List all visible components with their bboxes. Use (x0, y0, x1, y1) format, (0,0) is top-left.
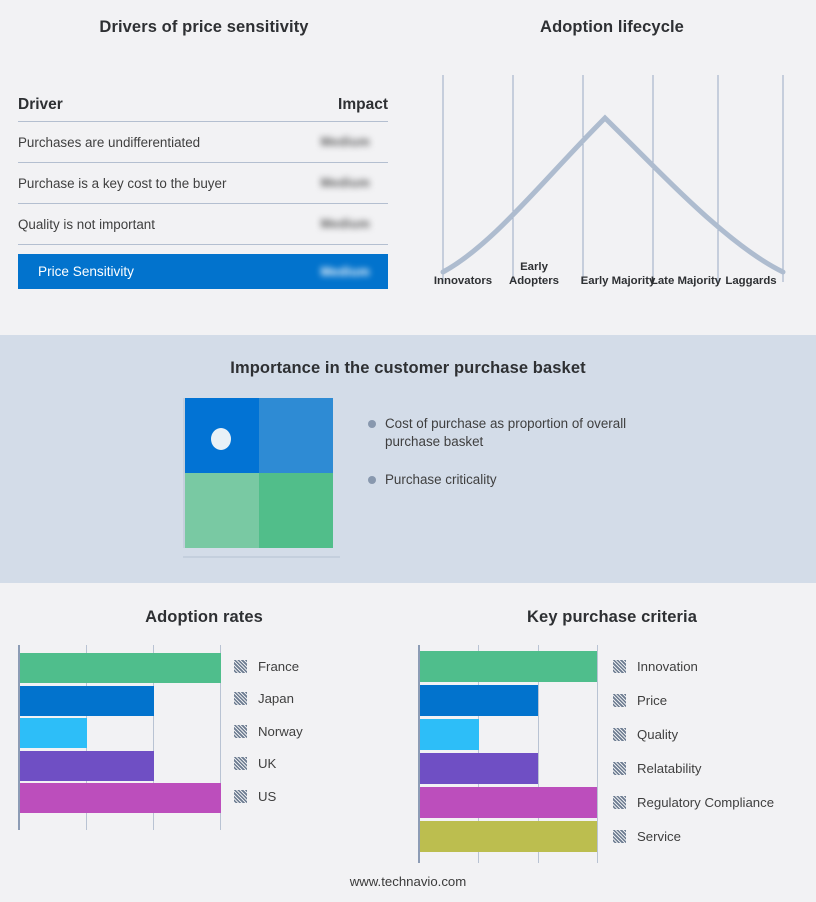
hatch-swatch-icon (234, 725, 247, 738)
drivers-panel-title: Drivers of price sensitivity (0, 18, 408, 37)
adoption-rates-legend: FranceJapanNorwayUKUS (234, 650, 303, 813)
table-row: Quality is not important Medium (18, 204, 388, 245)
matrix-x-axis (183, 556, 340, 558)
price-sensitivity-summary-row: Price Sensitivity Medium (18, 254, 388, 289)
legend-label: Price (637, 693, 667, 708)
legend-label: Regulatory Compliance (637, 795, 774, 810)
matrix-quadrant-bottom-left (185, 473, 259, 548)
legend-item: UK (234, 748, 303, 781)
key-purchase-criteria-panel: Key purchase criteria InnovationPriceQua… (408, 583, 816, 902)
legend-label: Quality (637, 727, 678, 742)
bar-us (20, 783, 221, 813)
key-purchase-criteria-title: Key purchase criteria (408, 608, 816, 627)
adoption-lifecycle-chart: Innovators Early Adopters Early Majority… (433, 60, 793, 310)
drivers-table: Driver Impact Purchases are undifferenti… (18, 88, 388, 289)
drivers-panel: Drivers of price sensitivity Driver Impa… (0, 0, 408, 335)
lifecycle-curve-svg (433, 60, 793, 310)
purchase-basket-matrix-wrap (183, 398, 333, 548)
bar-france (20, 653, 221, 683)
bar-service (420, 821, 597, 852)
bullet-icon (368, 476, 376, 484)
table-row: Purchases are undifferentiated Medium (18, 122, 388, 163)
bell-curve-path (443, 118, 783, 272)
legend-label: Relatability (637, 761, 702, 776)
legend-label: UK (258, 756, 276, 771)
gridline (597, 645, 598, 863)
list-item: Cost of purchase as proportion of overal… (368, 415, 668, 451)
matrix-position-marker-icon (211, 428, 231, 450)
driver-label: Quality is not important (18, 217, 155, 232)
summary-impact-value: Medium (321, 265, 388, 279)
lifecycle-stage-innovators: Innovators (419, 275, 507, 289)
legend-item: Price (613, 683, 774, 717)
driver-label: Purchase is a key cost to the buyer (18, 176, 226, 191)
hatch-swatch-icon (613, 728, 626, 741)
adoption-rates-panel: Adoption rates FranceJapanNorwayUKUS (0, 583, 408, 902)
legend-item: Service (613, 819, 774, 853)
lifecycle-stage-early-adopters: Early Adopters (495, 261, 573, 288)
legend-label: Service (637, 829, 681, 844)
hatch-swatch-icon (234, 692, 247, 705)
adoption-rates-title: Adoption rates (0, 608, 408, 627)
hatch-swatch-icon (613, 762, 626, 775)
lifecycle-dividers (443, 75, 783, 282)
legend-item: Japan (234, 683, 303, 716)
lifecycle-panel-title: Adoption lifecycle (408, 18, 816, 37)
bar-quality (420, 719, 479, 750)
legend-item: Regulatory Compliance (613, 785, 774, 819)
footer-url: www.technavio.com (0, 874, 816, 889)
lifecycle-stage-late-majority: Late Majority (649, 275, 723, 289)
bullet-icon (368, 420, 376, 428)
bar-japan (20, 686, 154, 716)
lifecycle-stage-laggards: Laggards (717, 275, 785, 289)
adoption-rates-plot (18, 645, 222, 830)
hatch-swatch-icon (234, 660, 247, 673)
bar-price (420, 685, 538, 716)
drivers-table-header: Driver Impact (18, 88, 388, 122)
legend-item: France (234, 650, 303, 683)
matrix-quadrant-top-left (185, 398, 259, 473)
list-item: Purchase criticality (368, 471, 668, 489)
table-row: Purchase is a key cost to the buyer Medi… (18, 163, 388, 204)
criteria-plot (418, 645, 598, 863)
bar-relatability (420, 753, 538, 784)
matrix-quadrant-top-right (259, 398, 333, 473)
impact-value: Medium (321, 176, 388, 190)
purchase-basket-matrix (183, 398, 333, 548)
adoption-rates-chart: FranceJapanNorwayUKUS (18, 645, 398, 830)
legend-label: US (258, 789, 276, 804)
legend-item: Quality (613, 717, 774, 751)
importance-panel-title: Importance in the customer purchase bask… (0, 359, 816, 378)
hatch-swatch-icon (613, 694, 626, 707)
column-header-driver: Driver (18, 96, 63, 114)
legend-label: Norway (258, 724, 303, 739)
legend-label: Purchase criticality (385, 471, 497, 489)
bar-regulatory-compliance (420, 787, 597, 818)
legend-label: Innovation (637, 659, 698, 674)
criteria-legend: InnovationPriceQualityRelatabilityRegula… (613, 649, 774, 853)
matrix-quadrant-bottom-right (259, 473, 333, 548)
bar-uk (20, 751, 154, 781)
hatch-swatch-icon (234, 757, 247, 770)
legend-label: Cost of purchase as proportion of overal… (385, 415, 668, 451)
hatch-swatch-icon (613, 660, 626, 673)
importance-legend: Cost of purchase as proportion of overal… (368, 415, 668, 509)
summary-label: Price Sensitivity (38, 264, 134, 279)
driver-label: Purchases are undifferentiated (18, 135, 200, 150)
hatch-swatch-icon (613, 830, 626, 843)
hatch-swatch-icon (613, 796, 626, 809)
adoption-lifecycle-panel: Adoption lifecycle Innovators Early Adop… (408, 0, 816, 335)
legend-item: Relatability (613, 751, 774, 785)
key-purchase-criteria-chart: InnovationPriceQualityRelatabilityRegula… (418, 645, 813, 863)
impact-value: Medium (321, 217, 388, 231)
impact-value: Medium (321, 135, 388, 149)
legend-label: Japan (258, 691, 294, 706)
infographic-page: Drivers of price sensitivity Driver Impa… (0, 0, 816, 902)
legend-label: France (258, 659, 299, 674)
bar-norway (20, 718, 87, 748)
legend-item: Norway (234, 715, 303, 748)
importance-panel: Importance in the customer purchase bask… (0, 335, 816, 583)
column-header-impact: Impact (338, 96, 388, 114)
lifecycle-stage-early-majority: Early Majority (579, 275, 657, 289)
hatch-swatch-icon (234, 790, 247, 803)
legend-item: US (234, 780, 303, 813)
bar-innovation (420, 651, 597, 682)
legend-item: Innovation (613, 649, 774, 683)
